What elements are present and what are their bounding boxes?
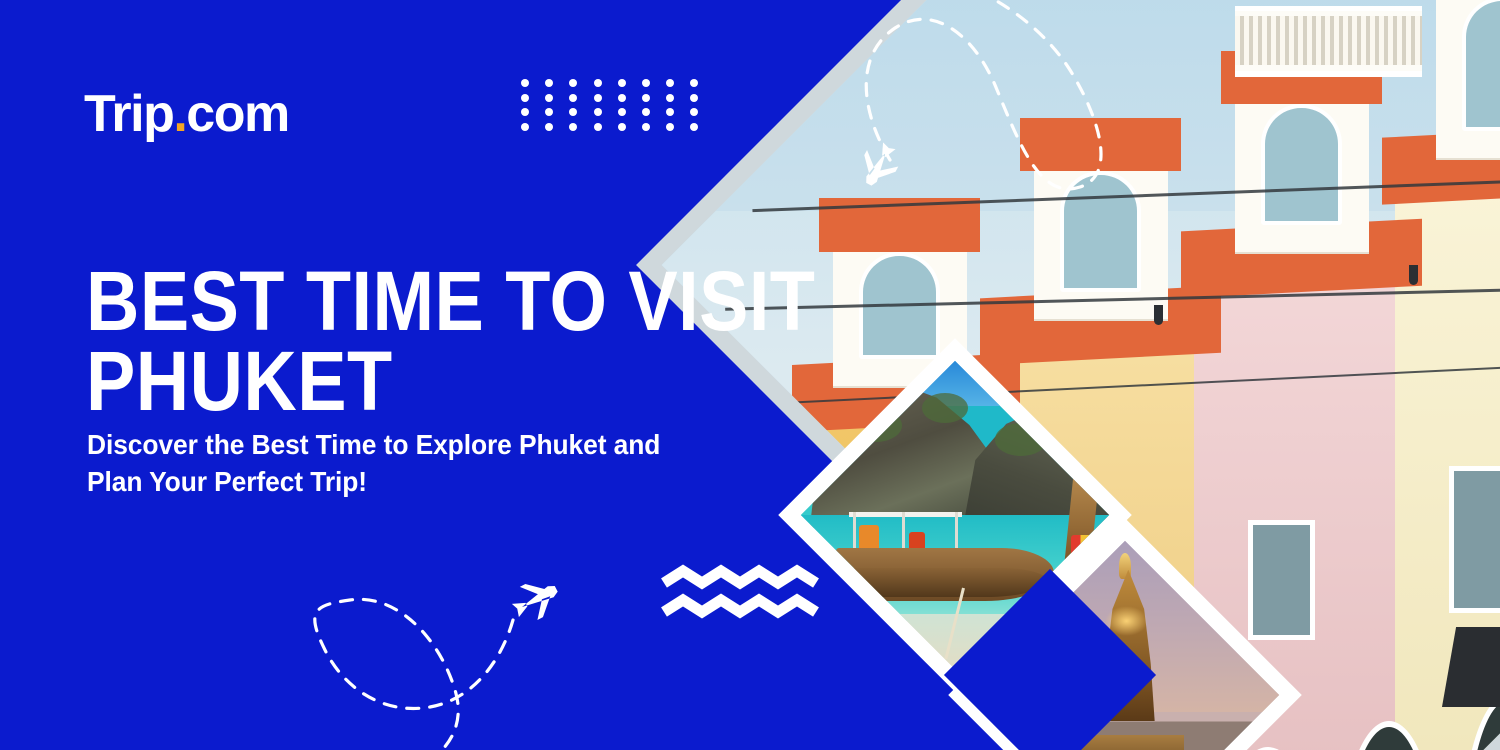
logo-suffix: com — [186, 85, 288, 143]
headline-line-2: PHUKET — [86, 342, 816, 422]
phuket-travel-banner: Trip.com BEST TIME TO VISIT PHUKET Disco… — [0, 0, 1500, 750]
subtitle-line-1: Discover the Best Time to Explore Phuket… — [87, 426, 797, 464]
page-title: BEST TIME TO VISIT PHUKET — [86, 262, 816, 422]
page-subtitle: Discover the Best Time to Explore Phuket… — [87, 426, 797, 502]
dot-grid-decoration — [521, 79, 701, 124]
trip-com-logo[interactable]: Trip.com — [84, 88, 289, 140]
subtitle-line-2: Plan Your Perfect Trip! — [87, 463, 797, 501]
headline-line-1: BEST TIME TO VISIT — [86, 262, 816, 342]
logo-word: Trip — [84, 85, 173, 143]
logo-dot: . — [173, 85, 186, 143]
